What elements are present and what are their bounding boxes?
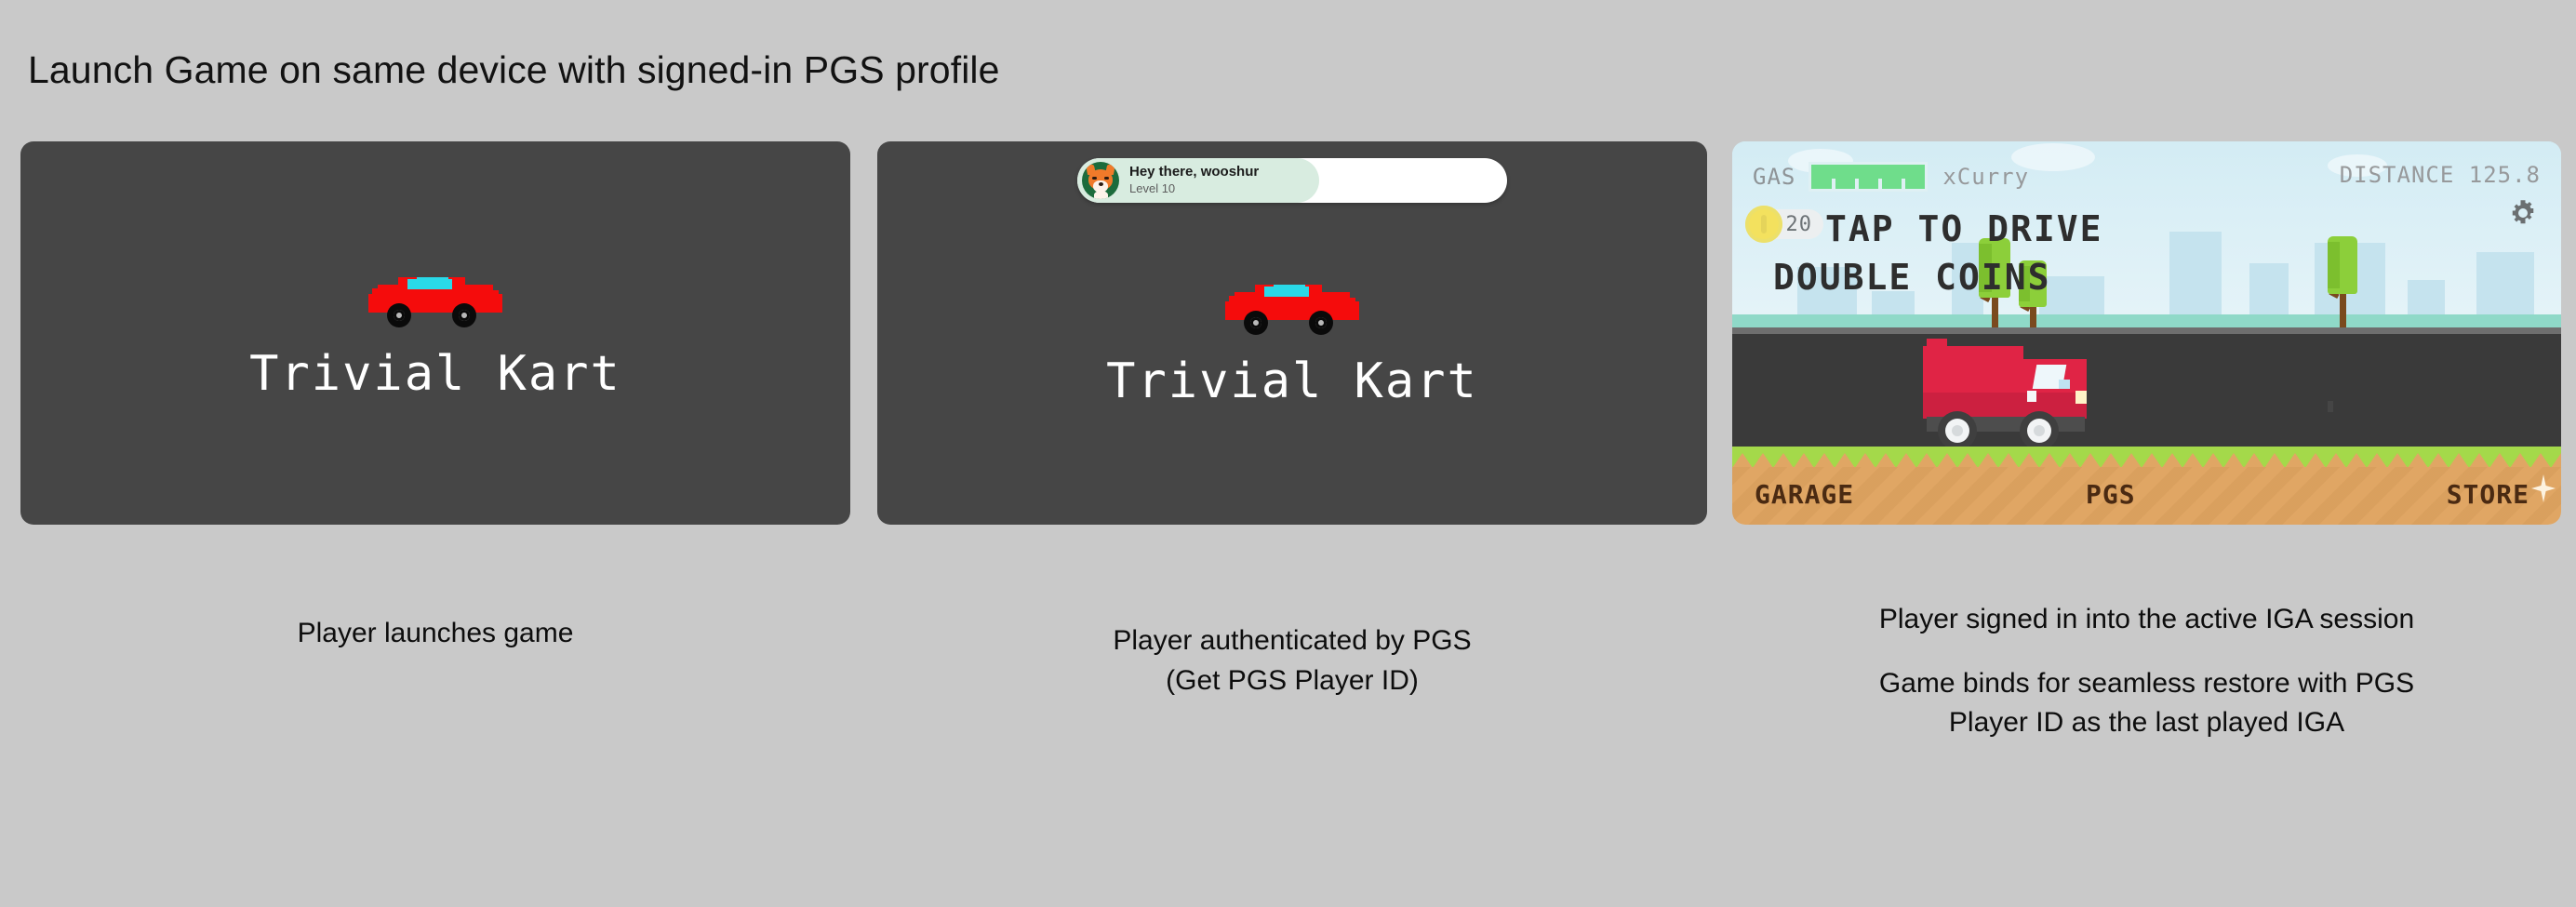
pixel-car-icon — [1223, 281, 1361, 333]
coin-icon — [1745, 206, 1782, 243]
caption-launch: Player launches game — [20, 614, 850, 654]
toast-text-group: Hey there, wooshur Level 10 — [1129, 164, 1259, 197]
caption-gameplay: Player signed in into the active IGA ses… — [1732, 600, 2561, 743]
game-splash: Trivial Kart — [20, 273, 850, 402]
hud-username: xCurry — [1942, 164, 2029, 190]
caption-line: Player authenticated by PGS — [877, 621, 1707, 661]
panel-launch: Trivial Kart — [20, 141, 850, 525]
game-logo: Trivial Kart — [1106, 353, 1478, 409]
nav-store[interactable]: STORE — [2447, 479, 2529, 510]
nav-pgs[interactable]: PGS — [2086, 479, 2136, 510]
coin-badge: 20 — [1745, 207, 1782, 242]
pixel-car-icon — [367, 273, 504, 326]
coin-count: 20 — [1786, 213, 1813, 236]
gas-meter — [1809, 162, 1928, 192]
caption-line: Player ID as the last played IGA — [1732, 703, 2561, 743]
caption-line: (Get PGS Player ID) — [877, 661, 1707, 701]
panels-row: Trivial Kart Hey there, wooshur Level 10 — [0, 0, 2576, 907]
car-wheel-right-icon — [452, 303, 476, 327]
game-splash: Trivial Kart — [877, 281, 1707, 409]
hud-gas-group: GAS xCurry — [1753, 162, 2029, 192]
caption-line: Game binds for seamless restore with PGS — [1732, 664, 2561, 704]
player-truck — [1923, 339, 2092, 441]
fox-avatar-icon — [1082, 162, 1119, 199]
dirt-zigzag-edge — [1732, 453, 2561, 468]
panel-authenticated: Hey there, wooshur Level 10 Trivial Kart — [877, 141, 1707, 525]
nav-garage[interactable]: GARAGE — [1755, 479, 1854, 510]
truck-wheel-front-icon — [2020, 411, 2059, 450]
toast-greeting: Hey there, wooshur — [1129, 164, 1259, 181]
gas-label: GAS — [1753, 164, 1795, 190]
bottom-nav-bar: GARAGE PGS STORE — [1732, 467, 2561, 525]
truck-wheel-rear-icon — [1938, 411, 1977, 450]
game-message-secondary: DOUBLE COINS — [1773, 257, 2051, 298]
game-message-primary: TAP TO DRIVE — [1825, 208, 2103, 249]
car-wheel-right-icon — [1309, 311, 1333, 335]
caption-authenticated: Player authenticated by PGS (Get PGS Pla… — [877, 621, 1707, 700]
gear-icon[interactable] — [2509, 199, 2537, 227]
road — [1732, 327, 2561, 453]
caption-line: Player signed in into the active IGA ses… — [1732, 600, 2561, 640]
game-logo: Trivial Kart — [249, 346, 621, 402]
pgs-signin-toast[interactable]: Hey there, wooshur Level 10 — [1077, 158, 1507, 203]
toast-level: Level 10 — [1129, 181, 1259, 197]
car-wheel-left-icon — [387, 303, 411, 327]
car-wheel-left-icon — [1244, 311, 1268, 335]
hud-distance: DISTANCE 125.8 — [2340, 162, 2541, 188]
panel-gameplay: GARAGE PGS STORE GAS xCurry DISTANCE 125… — [1732, 141, 2561, 525]
tree-icon — [2328, 236, 2357, 329]
